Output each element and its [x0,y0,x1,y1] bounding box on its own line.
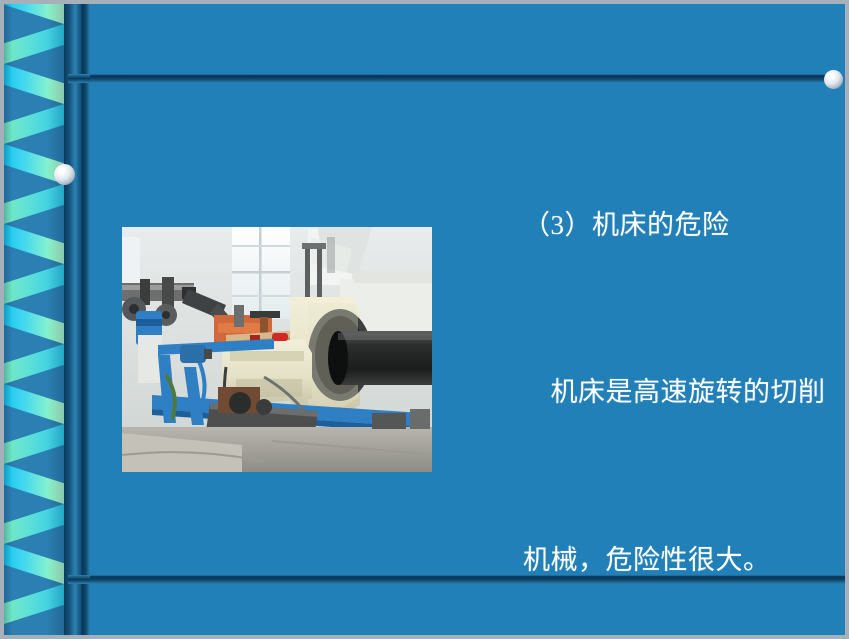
slide-canvas: （3）机床的危险 机床是高速旋转的切削 机械，危险性很大。 1、其旋转部分，如钻… [4,4,845,635]
text-para1-line1: 机床是高速旋转的切削 [465,343,835,444]
vertical-spine-bar-outer [64,4,82,635]
top-divider-wedge [68,74,90,83]
text-heading: （3）机床的危险 [465,175,835,276]
slide-body-text: （3）机床的危险 机床是高速旋转的切削 机械，危险性很大。 1、其旋转部分，如钻… [465,108,835,635]
top-divider-rule [70,74,827,83]
vertical-spine-bar-inner [82,4,90,635]
left-ribbon-decoration [4,4,64,635]
bullet-ball-top-right [824,70,843,89]
machine-photo [122,227,432,472]
presentation-slide: （3）机床的危险 机床是高速旋转的切削 机械，危险性很大。 1、其旋转部分，如钻… [0,0,849,639]
bullet-ball-left-spine [54,164,75,185]
text-para1-line2: 机械，危险性很大。 [465,510,835,611]
bottom-divider-wedge [68,575,90,584]
